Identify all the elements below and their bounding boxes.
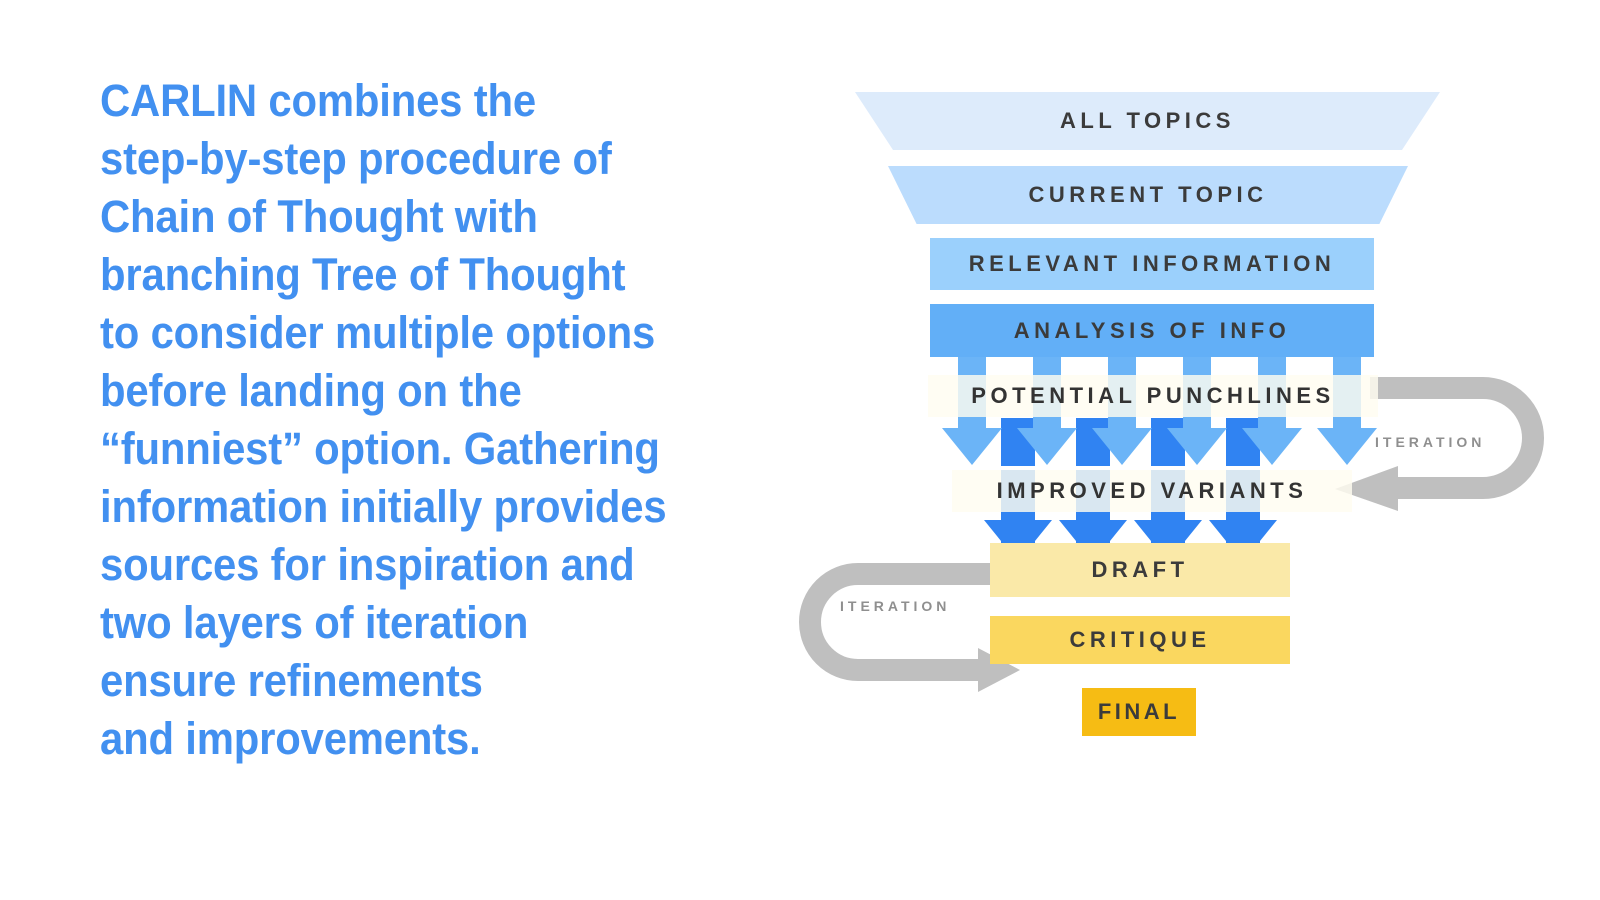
- iteration-label-top: ITERATION: [1375, 434, 1485, 450]
- stage-relevant-information[interactable]: RELEVANT INFORMATION: [930, 238, 1374, 290]
- stage-critique[interactable]: CRITIQUE: [990, 616, 1290, 664]
- stage-improved-variants[interactable]: IMPROVED VARIANTS: [952, 470, 1352, 512]
- stage-label: ALL TOPICS: [1060, 110, 1235, 132]
- stage-label: POTENTIAL PUNCHLINES: [971, 383, 1334, 409]
- iteration-label-bottom: ITERATION: [840, 598, 950, 614]
- stage-label: CURRENT TOPIC: [1029, 184, 1268, 206]
- light-arrow-head: [1092, 428, 1152, 465]
- light-arrow-head: [1167, 428, 1227, 465]
- stage-draft[interactable]: DRAFT: [990, 543, 1290, 597]
- slide-canvas: CARLIN combines the step-by-step procedu…: [0, 0, 1600, 900]
- stage-label: DRAFT: [1091, 557, 1188, 583]
- light-arrow-head: [1017, 428, 1077, 465]
- stage-current-topic[interactable]: CURRENT TOPIC: [888, 166, 1408, 224]
- stage-analysis-of-info[interactable]: ANALYSIS OF INFO: [930, 304, 1374, 357]
- stage-label: ANALYSIS OF INFO: [1014, 320, 1291, 342]
- pipeline-diagram: ALL TOPICS CURRENT TOPIC RELEVANT INFORM…: [0, 0, 1600, 900]
- stage-all-topics[interactable]: ALL TOPICS: [855, 92, 1440, 150]
- light-arrow-head: [942, 428, 1002, 465]
- stage-label: IMPROVED VARIANTS: [997, 478, 1308, 504]
- stage-label: CRITIQUE: [1069, 627, 1210, 653]
- stage-label: RELEVANT INFORMATION: [969, 253, 1336, 275]
- light-arrow-head: [1242, 428, 1302, 465]
- light-arrow-head: [1317, 428, 1377, 465]
- stage-potential-punchlines[interactable]: POTENTIAL PUNCHLINES: [928, 375, 1378, 417]
- stage-final[interactable]: FINAL: [1082, 688, 1196, 736]
- stage-label: FINAL: [1098, 699, 1180, 725]
